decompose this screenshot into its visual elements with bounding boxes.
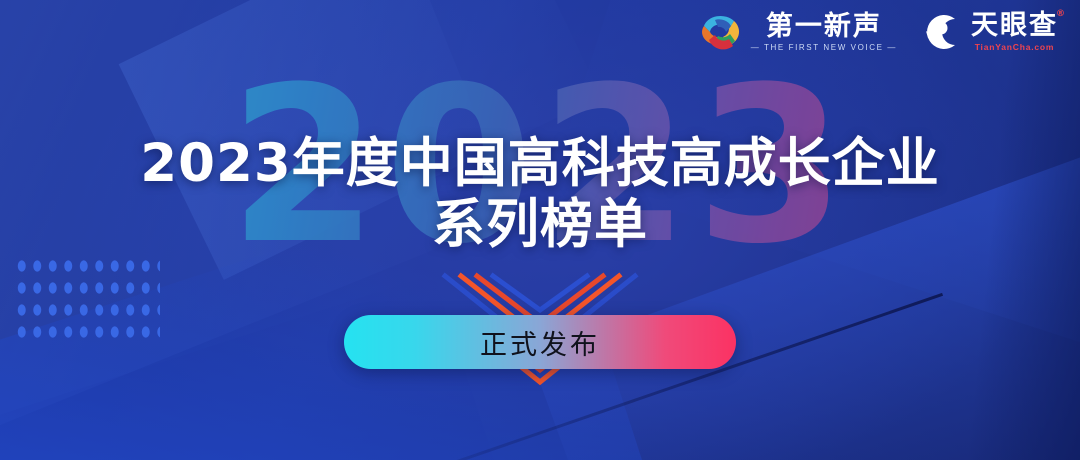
headline-line-1: 2023年度中国高科技高成长企业 (0, 134, 1080, 194)
logo-diyixinsheng[interactable]: 第一新声 — THE FIRST NEW VOICE — (699, 12, 897, 52)
logo-tianyancha-tagline: TianYanCha.com (975, 43, 1055, 52)
logo-tianyancha-name: 天眼查 ® (971, 12, 1058, 39)
logo-diyixinsheng-text: 第一新声 — THE FIRST NEW VOICE — (751, 13, 897, 52)
eye-aperture-icon (919, 12, 963, 52)
headline-line-2: 系列榜单 (0, 194, 1080, 256)
logo-tianyancha[interactable]: 天眼查 ® TianYanCha.com (919, 12, 1058, 52)
dot-grid-decoration (14, 255, 160, 341)
logo-bar: 第一新声 — THE FIRST NEW VOICE — 天眼查 (699, 12, 1058, 52)
release-status-label: 正式发布 (480, 323, 600, 362)
logo-diyixinsheng-name: 第一新声 (766, 13, 882, 40)
release-status-pill[interactable]: 正式发布 (344, 315, 736, 369)
logo-tianyancha-name-cn: 天眼查 (971, 10, 1058, 41)
registered-trademark-icon: ® (1056, 10, 1067, 19)
banner-headline: 2023年度中国高科技高成长企业 系列榜单 (0, 134, 1080, 256)
logo-tianyancha-text: 天眼查 ® TianYanCha.com (971, 12, 1058, 52)
swirl-ribbon-icon (699, 12, 743, 52)
promo-banner: 2023 2023年度中国高科技高成长企业 系列榜单 正式发布 (0, 0, 1080, 460)
logo-diyixinsheng-tagline: — THE FIRST NEW VOICE — (751, 44, 897, 52)
